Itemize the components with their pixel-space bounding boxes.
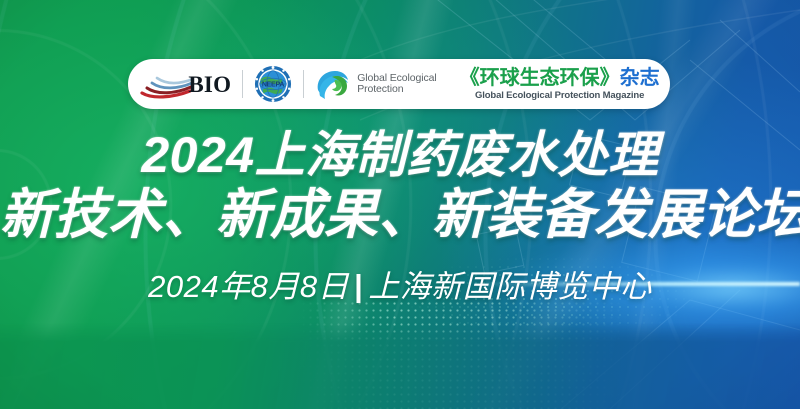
gep-wordmark: Global Ecological Protection [357, 73, 436, 96]
bio-wordmark: BIO [188, 73, 231, 96]
gep-line-2: Protection [357, 84, 436, 96]
gep-leaf-globe-icon [315, 68, 351, 101]
magazine-title-cn-suffix: 杂志 [620, 67, 660, 89]
magazine-logo: 《环球生态环保》杂志 Global Ecological Protection … [460, 64, 660, 104]
neepa-logo: NEEPA [254, 64, 292, 104]
event-banner: BIO [0, 0, 800, 409]
neepa-acronym: NEEPA [262, 81, 284, 88]
bio-logo: BIO [138, 64, 231, 104]
magazine-title-cn-main: 《环球生态环保》 [460, 67, 620, 89]
logo-divider [242, 70, 243, 98]
neepa-globe-icon: NEEPA [254, 65, 292, 103]
magazine-title-en: Global Ecological Protection Magazine [475, 91, 644, 101]
magazine-title-cn: 《环球生态环保》杂志 [460, 68, 660, 88]
bio-swoosh-icon [138, 67, 194, 101]
logo-divider [303, 70, 304, 98]
global-ecological-protection-logo: Global Ecological Protection [315, 64, 436, 104]
sponsor-logo-bar: BIO [128, 59, 670, 109]
